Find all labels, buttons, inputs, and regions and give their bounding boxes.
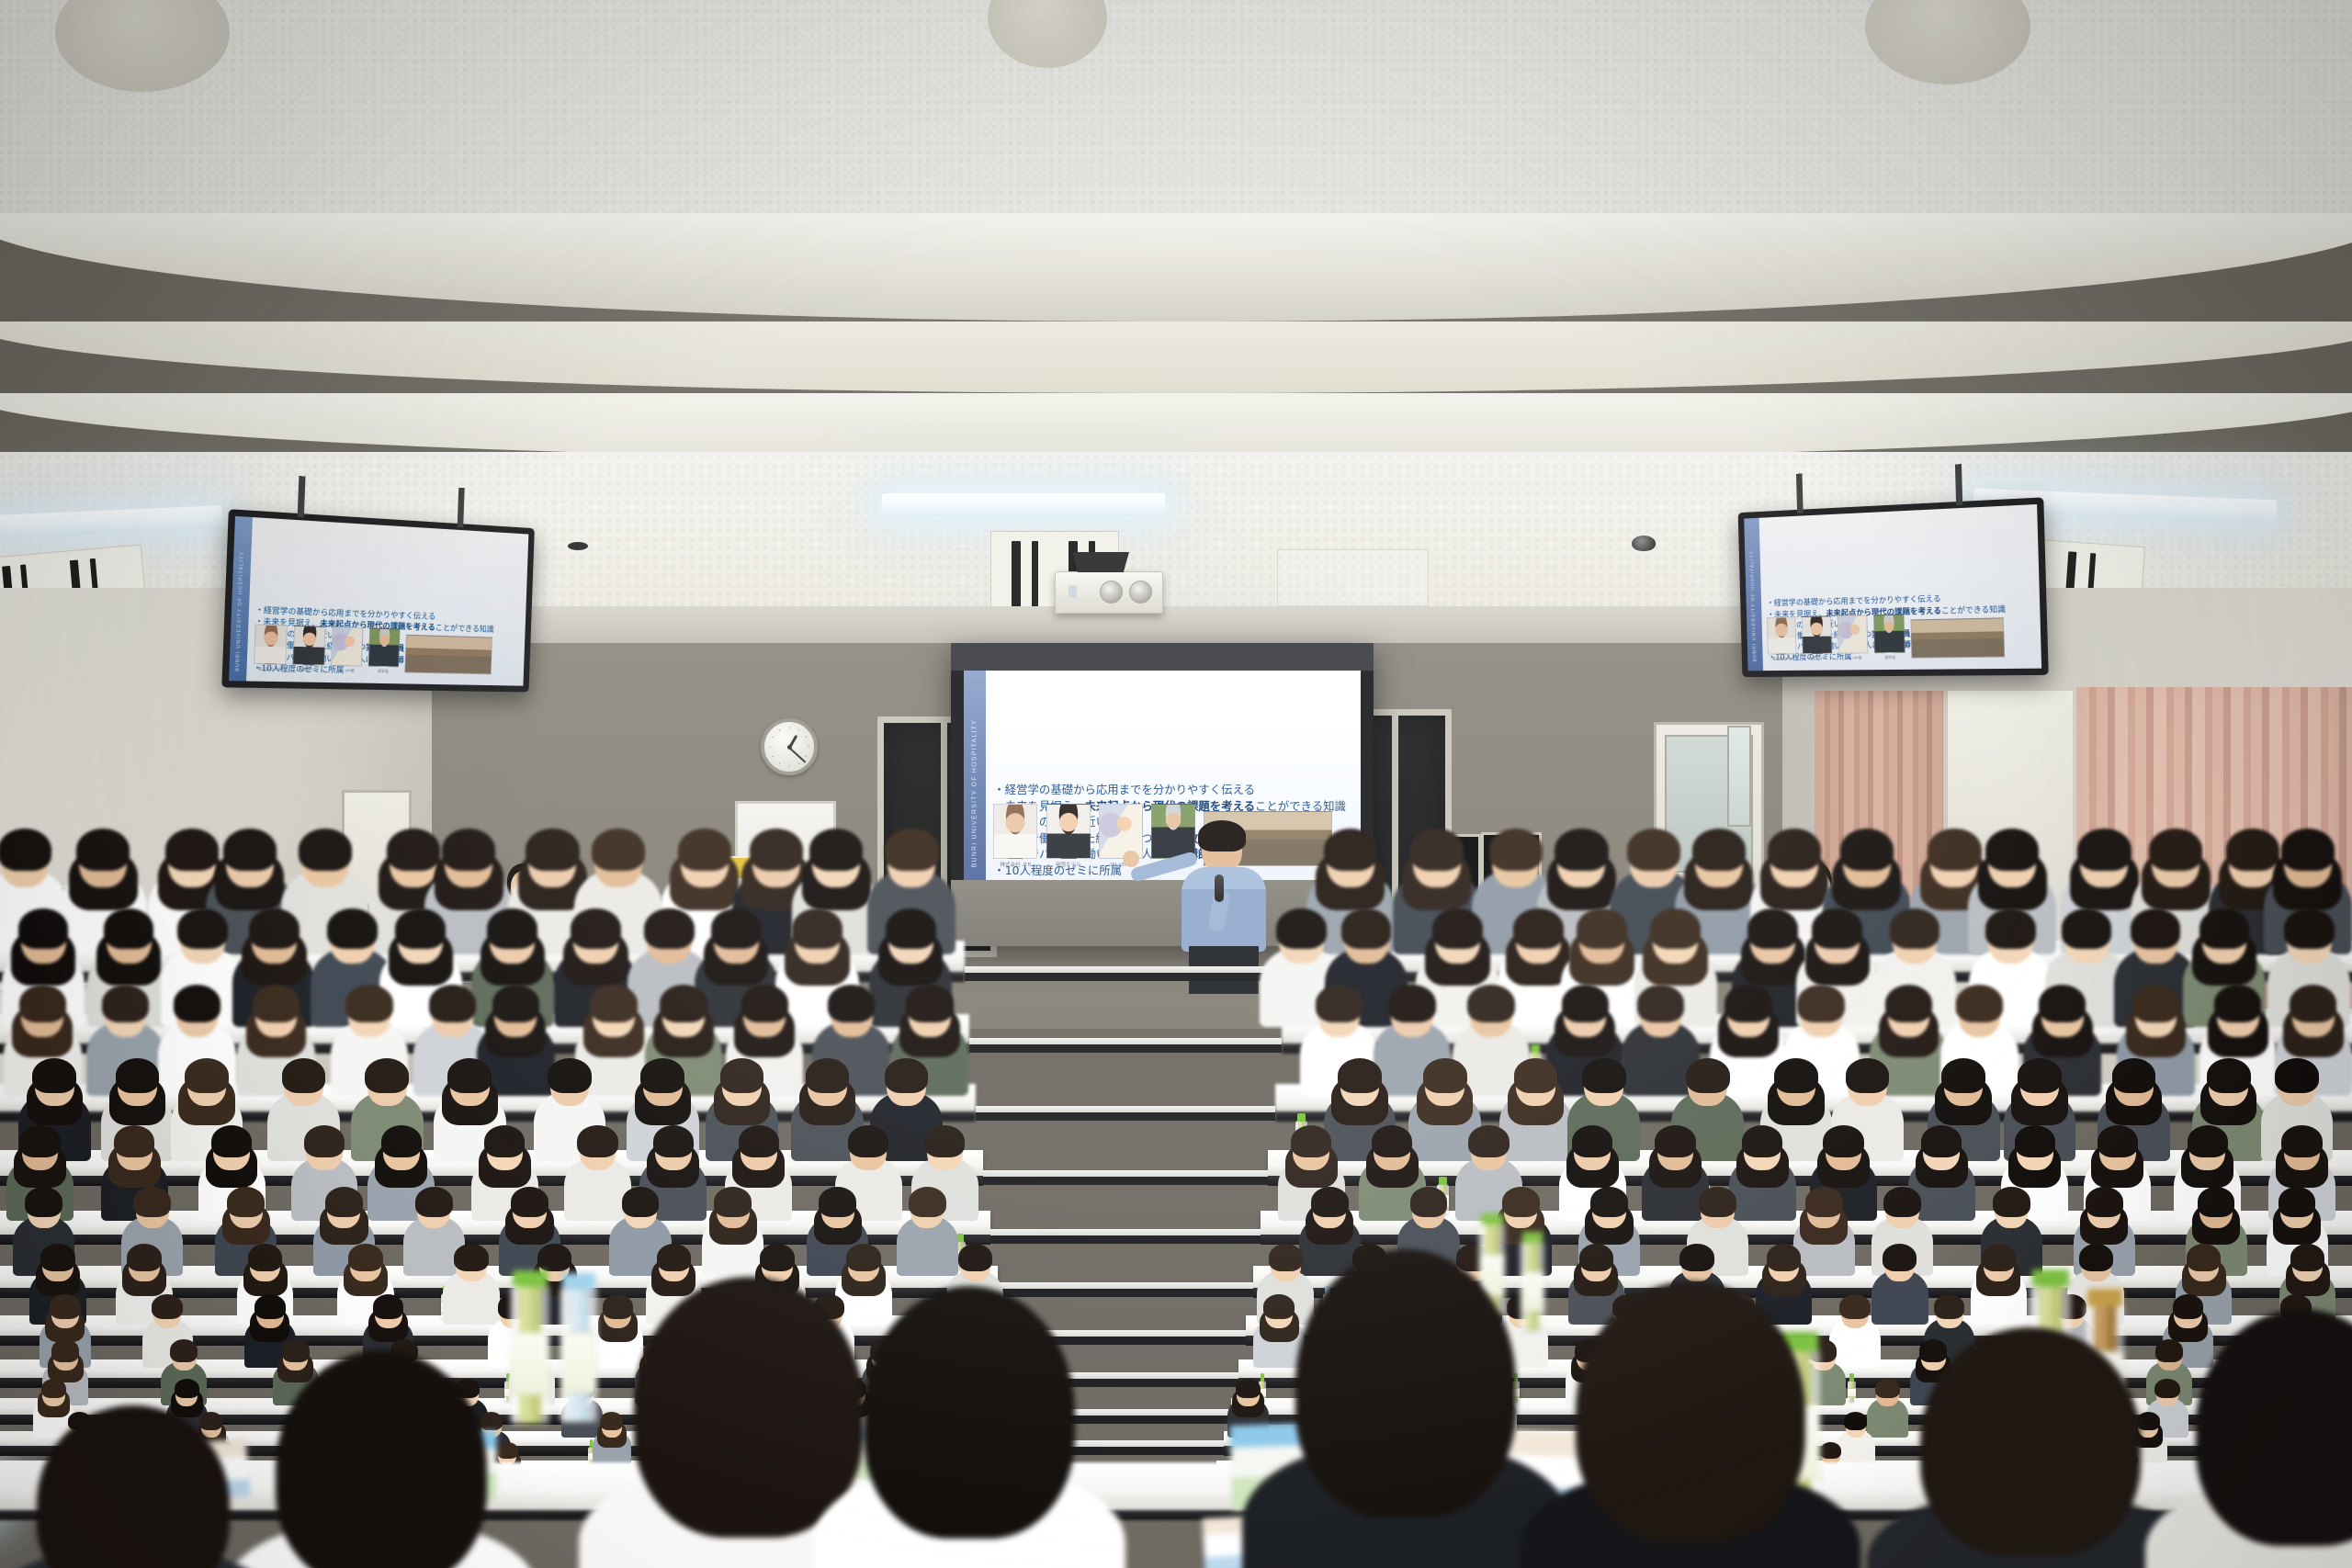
- person-hair: [18, 908, 69, 949]
- person-hair: [1797, 985, 1844, 1022]
- person-hair: [104, 908, 154, 949]
- person-hair: [714, 1187, 752, 1216]
- person-hair: [739, 1125, 779, 1157]
- person-hair: [429, 985, 476, 1022]
- person-hair: [492, 985, 539, 1022]
- person-hair: [537, 1244, 571, 1271]
- person-hair: [1982, 1244, 2016, 1271]
- foreground-person: [276, 1350, 487, 1568]
- person-hair: [644, 908, 695, 949]
- person-hair: [1692, 829, 1746, 871]
- person-hair: [2187, 1244, 2221, 1271]
- monitor-right-mount-1: [1796, 473, 1804, 513]
- person-hair: [325, 1187, 363, 1216]
- foreground-person: [1576, 1281, 1805, 1568]
- foreground-person: [1920, 1327, 2141, 1568]
- right-monitor-screen: BUNRI UNIVERSITY OF HOSPITALITY ・経営学の基礎か…: [1744, 504, 2041, 671]
- person-hair: [2154, 1379, 2179, 1399]
- slide-institution-name: BUNRI UNIVERSITY OF HOSPITALITY: [1750, 550, 1758, 662]
- presenter-hand: [1123, 851, 1139, 867]
- projector-lens-icon-2: [1129, 581, 1152, 604]
- person-hair: [2149, 829, 2202, 871]
- person-hair: [1993, 1187, 2030, 1216]
- person-hair: [924, 1125, 965, 1157]
- aisle-step: [983, 1170, 1268, 1177]
- slide-photo-cell: 株式会社 JTB: [253, 625, 287, 673]
- person-hair: [1839, 1294, 1871, 1319]
- person-hair: [906, 985, 953, 1022]
- bottle-cap: [1439, 1177, 1446, 1185]
- ceiling-access-panel-2: [1277, 549, 1429, 606]
- smoke-detector-icon-2: [568, 542, 588, 550]
- aisle-step: [990, 1229, 1261, 1235]
- person-hair: [1875, 1379, 1900, 1399]
- person-hair: [40, 1244, 74, 1271]
- person-hair: [1468, 1125, 1509, 1157]
- bottle-cap: [1481, 1213, 1503, 1224]
- person-hair: [864, 1286, 1075, 1539]
- person-hair: [276, 1350, 487, 1568]
- person-hair: [2199, 908, 2250, 949]
- person-hair: [2284, 908, 2335, 949]
- slide-photo-caption: 帝国ホテル: [1804, 656, 1833, 661]
- person-hair: [2077, 829, 2131, 871]
- slide-photo-cell: [404, 635, 492, 677]
- slide-photo-image: [1802, 616, 1832, 655]
- person-hair: [2062, 908, 2112, 949]
- person-hair: [1372, 1125, 1412, 1157]
- person-hair: [1489, 829, 1543, 871]
- person-hair: [1890, 908, 1940, 949]
- person-hair: [127, 1244, 161, 1271]
- slide-photo-image: [367, 628, 400, 668]
- person-hair: [415, 1187, 453, 1216]
- person-hair: [1742, 1125, 1782, 1157]
- person-hair: [711, 908, 762, 949]
- person-hair: [254, 1294, 286, 1319]
- screen-casing: [951, 643, 1374, 671]
- slide-photo-image: [1837, 615, 1869, 654]
- slide-body: ・経営学の基礎から応用までを分かりやすく伝える・未来を見据え、未来起点から現代の…: [1765, 520, 2032, 665]
- person-hair: [447, 1058, 492, 1093]
- ceiling-camera-icon: [1632, 536, 1656, 551]
- person-hair: [497, 1442, 518, 1459]
- person-hair: [1467, 985, 1514, 1022]
- person-hair: [1316, 985, 1363, 1022]
- person-hair: [640, 1058, 684, 1093]
- person-hair: [0, 829, 51, 871]
- aisle-step: [965, 966, 1286, 973]
- foreground-person: [2196, 1309, 2352, 1568]
- slide-photo-caption: JAL VIP便: [330, 668, 361, 674]
- foreground-person: [864, 1286, 1075, 1568]
- slide-main: BUNRI UNIVERSITY OF HOSPITALITY ・経営学の基礎か…: [964, 671, 1361, 880]
- person-hair: [2188, 1125, 2228, 1157]
- person-hair: [657, 1244, 691, 1271]
- slide-institution-name: BUNRI UNIVERSITY OF HOSPITALITY: [971, 719, 978, 867]
- person-hair: [116, 1058, 160, 1093]
- person-hair: [2015, 1125, 2055, 1157]
- person-hair: [1985, 908, 2036, 949]
- person-hair: [1885, 985, 1932, 1022]
- person-hair: [1579, 1244, 1613, 1271]
- person-hair: [548, 1058, 592, 1093]
- person-hair: [299, 829, 352, 871]
- person-hair: [185, 1058, 229, 1093]
- microphone-icon: [1215, 874, 1224, 902]
- person-hair: [170, 1339, 198, 1361]
- person-hair: [720, 1058, 764, 1093]
- person-hair: [526, 829, 579, 871]
- ceiling-beam-3: [0, 393, 2352, 459]
- person-hair: [1572, 1125, 1612, 1157]
- foreground-person: [1295, 1249, 1516, 1562]
- slide-photo-cell: 前学長: [1874, 615, 1906, 661]
- person-hair: [1338, 1058, 1382, 1093]
- person-hair: [2214, 985, 2261, 1022]
- slide-photo-cell: 帝国ホテル: [292, 626, 325, 673]
- person-hair: [175, 1379, 199, 1399]
- person-hair: [282, 1058, 326, 1093]
- person-hair: [1941, 1058, 1985, 1093]
- slide-right-mirror: BUNRI UNIVERSITY OF HOSPITALITY ・経営学の基礎か…: [1744, 504, 2041, 671]
- person-hair: [1768, 829, 1821, 871]
- person-hair: [1311, 1187, 1349, 1216]
- person-hair: [1295, 1249, 1516, 1517]
- person-hair: [2131, 908, 2181, 949]
- presenter-hair: [1198, 820, 1246, 852]
- slide-photo-caption: 株式会社 JTB: [1769, 656, 1798, 661]
- person-hair: [327, 908, 378, 949]
- right-wall-monitor: BUNRI UNIVERSITY OF HOSPITALITY ・経営学の基礎か…: [1738, 497, 2049, 677]
- person-hair: [1410, 829, 1464, 871]
- person-hair: [1820, 1442, 1841, 1459]
- person-hair: [1590, 1187, 1628, 1216]
- person-hair: [133, 1187, 171, 1216]
- projected-image-area: BUNRI UNIVERSITY OF HOSPITALITY ・経営学の基礎か…: [964, 671, 1361, 880]
- person-hair: [177, 908, 228, 949]
- tea-bottle: [560, 1288, 597, 1422]
- slide-photo-caption: 株式会社 JTB: [993, 861, 1037, 868]
- aisle-step: [969, 1038, 1282, 1044]
- slide-photo-image: [1099, 804, 1143, 859]
- aisle-step: [976, 1106, 1275, 1112]
- bottle-cap: [1297, 1113, 1306, 1122]
- person-hair: [1432, 908, 1483, 949]
- person-hair: [741, 985, 788, 1022]
- person-hair: [152, 1294, 183, 1319]
- person-hair: [1840, 829, 1894, 871]
- person-hair: [2155, 1339, 2183, 1361]
- bottle-cap: [562, 1273, 595, 1290]
- bottle-cap: [1531, 1044, 1540, 1053]
- person-hair: [634, 1277, 864, 1538]
- slide-photo-cell: 前学長: [367, 628, 400, 675]
- ceiling-tube-center-1: [882, 493, 1165, 516]
- slide-photo-image: [1874, 615, 1905, 654]
- bottle-cap: [1849, 1373, 1853, 1382]
- slide-left-mirror: BUNRI UNIVERSITY OF HOSPITALITY ・経営学の基礎か…: [229, 516, 528, 686]
- audience-person: [1971, 1244, 2027, 1332]
- person-hair: [2079, 1244, 2113, 1271]
- person-hair: [1423, 1058, 1467, 1093]
- slide-photo-cell: 株式会社 JTB: [993, 804, 1037, 868]
- person-hair: [1582, 1058, 1626, 1093]
- person-hair: [653, 1125, 694, 1157]
- left-monitor-screen: BUNRI UNIVERSITY OF HOSPITALITY ・経営学の基礎か…: [229, 516, 528, 686]
- person-hair: [1883, 1187, 1921, 1216]
- slide-photo-image: [993, 804, 1037, 859]
- bottle-cap: [513, 1270, 548, 1287]
- person-hair: [211, 1125, 252, 1157]
- ceiling-beam-2: [0, 321, 2352, 393]
- bottle-label: [1521, 1271, 1544, 1312]
- person-hair: [484, 1125, 525, 1157]
- slide-photo-image: [1046, 804, 1091, 859]
- person-hair: [1774, 1058, 1818, 1093]
- slide-institution-name: BUNRI UNIVERSITY OF HOSPITALITY: [235, 550, 245, 671]
- slide-photo-caption: 株式会社 JTB: [253, 666, 286, 672]
- tea-bottle: [1521, 1242, 1544, 1330]
- person-hair: [622, 1187, 660, 1216]
- person-hair: [1577, 908, 1627, 949]
- person-hair: [50, 1294, 81, 1319]
- slide-photo-row: 株式会社 JTB帝国ホテルJAL VIP便前学長: [253, 625, 516, 677]
- ceiling-projector: [1055, 571, 1163, 614]
- person-hair: [886, 908, 936, 949]
- person-hair: [760, 1244, 794, 1271]
- slide-sidebar: BUNRI UNIVERSITY OF HOSPITALITY: [964, 671, 986, 880]
- slide-photo-image: [1911, 617, 2006, 658]
- projector-bracket: [1072, 552, 1129, 572]
- person-hair: [1627, 829, 1680, 871]
- person-hair: [454, 1244, 488, 1271]
- person-hair: [2039, 985, 2086, 1022]
- person-hair: [909, 1187, 946, 1216]
- slide-photo-caption: 前学長: [1875, 655, 1905, 660]
- slide-photo-cell: JAL VIP便: [1837, 615, 1869, 661]
- person-hair: [2196, 1309, 2352, 1546]
- person-hair: [1724, 985, 1771, 1022]
- person-hair: [1513, 908, 1564, 949]
- person-hair: [345, 985, 392, 1022]
- slide-photo-cell: [1911, 617, 2006, 660]
- projector-lens-icon-1: [1100, 581, 1123, 604]
- person-hair: [348, 1244, 382, 1271]
- person-hair: [381, 1125, 422, 1157]
- person-hair: [2290, 985, 2336, 1022]
- person-hair: [592, 829, 645, 871]
- person-hair: [806, 1058, 850, 1093]
- person-hair: [2207, 1058, 2251, 1093]
- person-hair: [1846, 1058, 1890, 1093]
- bottle-label: [560, 1332, 597, 1393]
- slide-body: ・経営学の基礎から応用までを分かりやすく伝える・未来を見据え、未来起点から現代の…: [993, 690, 1349, 872]
- person-hair: [227, 1187, 265, 1216]
- person-hair: [571, 908, 621, 949]
- person-hair: [1934, 1294, 1965, 1319]
- person-hair: [1655, 1125, 1695, 1157]
- projector-indicator: [1069, 585, 1077, 598]
- slide-sidebar: BUNRI UNIVERSITY OF HOSPITALITY: [1744, 518, 1763, 671]
- slide-photo-caption: JAL VIP便: [1838, 655, 1869, 660]
- person-hair: [590, 985, 637, 1022]
- person-hair: [1805, 1187, 1843, 1216]
- person-hair: [223, 829, 277, 871]
- person-hair: [2198, 1187, 2235, 1216]
- person-hair: [885, 829, 938, 871]
- person-hair: [249, 908, 300, 949]
- slide-photo-image: [292, 626, 325, 666]
- person-hair: [1576, 1281, 1805, 1542]
- person-hair: [373, 1294, 404, 1319]
- slide-photo-cell: 帝国ホテル: [1046, 804, 1091, 868]
- left-wall-monitor: BUNRI UNIVERSITY OF HOSPITALITY ・経営学の基礎か…: [221, 509, 535, 692]
- bottle-cap: [1522, 1232, 1543, 1243]
- person-hair: [2018, 1058, 2062, 1093]
- wall-clock: [761, 718, 818, 775]
- person-hair: [2132, 985, 2179, 1022]
- person-hair: [848, 1125, 888, 1157]
- person-hair: [1637, 985, 1684, 1022]
- person-hair: [885, 1058, 929, 1093]
- person-hair: [19, 985, 66, 1022]
- person-hair: [1747, 908, 1798, 949]
- monitor-right-mount-2: [1955, 464, 1962, 505]
- person-hair: [1502, 1187, 1540, 1216]
- person-hair: [1263, 1294, 1295, 1319]
- person-hair: [828, 985, 875, 1022]
- tea-bottle: [511, 1286, 549, 1424]
- slide-photo-caption: 前学長: [367, 669, 398, 675]
- slide-photo-image: [404, 635, 492, 675]
- person-hair: [792, 908, 842, 949]
- slide-photo-row: 株式会社 JTB帝国ホテルJAL VIP便前学長: [1767, 612, 2031, 662]
- slide-sidebar: BUNRI UNIVERSITY OF HOSPITALITY: [229, 516, 253, 682]
- slide-photo-caption: 帝国ホテル: [292, 667, 324, 673]
- slide-photo-cell: JAL VIP便: [330, 626, 363, 673]
- person-hair: [76, 829, 130, 871]
- left-window-glass: [1727, 726, 1751, 827]
- person-hair: [1844, 1412, 1867, 1430]
- person-hair: [1920, 1327, 2141, 1556]
- lecture-hall-scene: だから…面白い BUNRI UNIVERSITY OF HOSPITALITY …: [0, 0, 2352, 1568]
- person-hair: [395, 908, 446, 949]
- person-hair: [253, 985, 300, 1022]
- slide-photo-image: [254, 625, 288, 665]
- person-hair: [1679, 1244, 1713, 1271]
- person-hair: [1883, 1244, 1917, 1271]
- person-hair: [1324, 829, 1377, 871]
- person-hair: [1388, 985, 1435, 1022]
- person-hair: [32, 1058, 76, 1093]
- person-hair: [37, 1405, 230, 1568]
- person-hair: [1236, 1379, 1261, 1399]
- person-hair: [25, 1187, 62, 1216]
- slide-photo-image: [1767, 616, 1797, 654]
- person-hair: [102, 985, 149, 1022]
- person-hair: [1650, 908, 1701, 949]
- person-hair: [1514, 1058, 1558, 1093]
- person-hair: [819, 1187, 856, 1216]
- person-hair: [511, 1187, 548, 1216]
- bottle-cap: [2087, 1289, 2122, 1306]
- person-hair: [1562, 985, 1609, 1022]
- person-hair: [603, 1294, 634, 1319]
- person-hair: [678, 829, 731, 871]
- person-hair: [2098, 1125, 2138, 1157]
- person-hair: [365, 1058, 409, 1093]
- bottle-label: [511, 1332, 549, 1395]
- person-hair: [577, 1125, 617, 1157]
- person-hair: [660, 985, 707, 1022]
- person-hair: [174, 985, 220, 1022]
- bottle-cap: [957, 1234, 964, 1242]
- person-hair: [1956, 985, 2003, 1022]
- slide-photo-cell: 株式会社 JTB: [1767, 616, 1797, 661]
- tea-bottle: [1848, 1381, 1855, 1402]
- slide-body: ・経営学の基礎から応用までを分かりやすく伝える・未来を見据え、未来起点から現代の…: [253, 532, 520, 679]
- person-hair: [846, 1244, 880, 1271]
- person-hair: [1767, 1244, 1801, 1271]
- person-hair: [442, 829, 495, 871]
- person-hair: [1812, 908, 1862, 949]
- person-hair: [2086, 1187, 2123, 1216]
- bottle-label: [1848, 1388, 1855, 1398]
- person-hair: [2275, 1058, 2319, 1093]
- person-hair: [2281, 829, 2335, 871]
- person-hair: [1341, 908, 1392, 949]
- ceiling-beam-1: [0, 213, 2352, 321]
- foreground-person: [37, 1405, 230, 1568]
- person-hair: [1276, 908, 1327, 949]
- person-hair: [41, 1379, 66, 1399]
- slide-photo-image: [331, 626, 363, 666]
- person-hair: [114, 1125, 154, 1157]
- slide-photo-cell: 帝国ホテル: [1802, 616, 1832, 662]
- person-hair: [1555, 829, 1608, 871]
- person-hair: [1985, 829, 2039, 871]
- person-hair: [958, 1244, 992, 1271]
- person-hair: [487, 908, 537, 949]
- person-hair: [2112, 1058, 2156, 1093]
- person-hair: [2278, 1187, 2316, 1216]
- person-hair: [809, 829, 863, 871]
- person-hair: [600, 1412, 623, 1430]
- person-hair: [1291, 1125, 1331, 1157]
- person-hair: [2290, 1244, 2324, 1271]
- person-hair: [1823, 1125, 1863, 1157]
- slide-photo-caption: 帝国ホテル: [1046, 861, 1091, 868]
- person-hair: [19, 1125, 60, 1157]
- bottle-cap: [2032, 1269, 2069, 1287]
- person-hair: [304, 1125, 345, 1157]
- person-hair: [1410, 1187, 1448, 1216]
- person-hair: [2281, 1125, 2322, 1157]
- person-hair: [1921, 1125, 1962, 1157]
- person-hair: [1699, 1187, 1736, 1216]
- person-hair: [1686, 1058, 1730, 1093]
- slide-bullet: ・経営学の基礎から応用までを分かりやすく伝える: [993, 782, 1349, 798]
- person-hair: [51, 1339, 79, 1361]
- person-hair: [248, 1244, 282, 1271]
